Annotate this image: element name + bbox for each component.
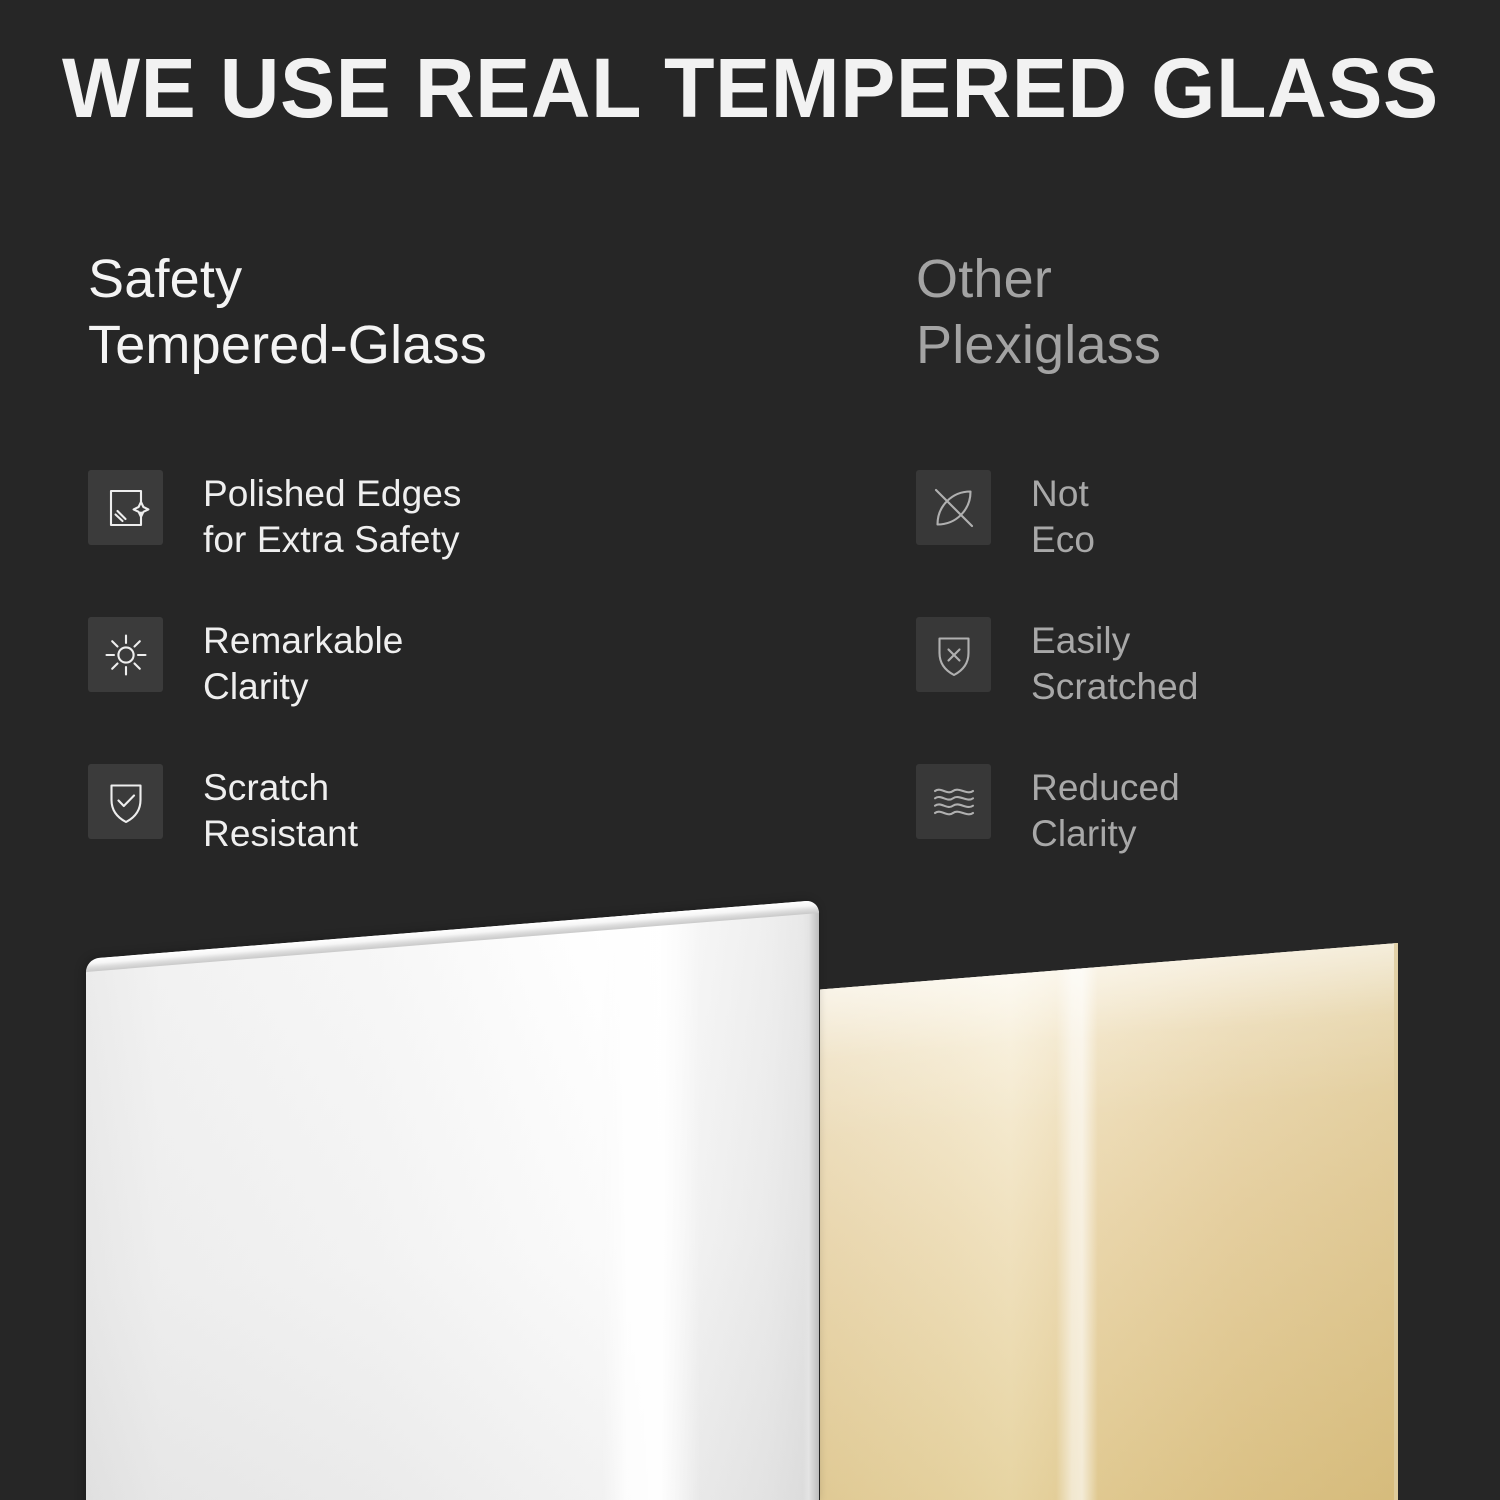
feature-label-remarkable-clarity: Remarkable Clarity <box>203 615 403 710</box>
shield-check-icon <box>88 764 163 839</box>
tempered-glass-panel-image <box>86 900 819 1500</box>
product-comparison-photo <box>0 860 1500 1500</box>
polished-edge-sparkle-icon <box>88 470 163 545</box>
feature-label-not-eco: Not Eco <box>1031 468 1095 563</box>
infographic-canvas: WE USE REAL TEMPERED GLASS Safety Temper… <box>0 0 1500 1500</box>
comparison-column-tempered-glass: Safety Tempered-Glass Polished Edges for… <box>88 246 728 378</box>
tempered-glass-panel-top-edge <box>86 900 819 972</box>
comparison-column-plexiglass: Other Plexiglass Not Eco <box>916 246 1476 378</box>
leaf-crossed-out-icon <box>916 470 991 545</box>
feature-row-remarkable-clarity: Remarkable Clarity <box>88 615 728 762</box>
plexiglass-panel-image <box>820 943 1398 1500</box>
feature-row-polished-edges: Polished Edges for Extra Safety <box>88 468 728 615</box>
feature-list-plexiglass: Not Eco Easily Scratched <box>916 468 1476 909</box>
sun-clarity-icon <box>88 617 163 692</box>
column-title-tempered-glass: Safety Tempered-Glass <box>88 246 728 378</box>
feature-label-scratch-resistant: Scratch Resistant <box>203 762 358 857</box>
feature-label-reduced-clarity: Reduced Clarity <box>1031 762 1180 857</box>
feature-row-easily-scratched: Easily Scratched <box>916 615 1476 762</box>
feature-label-polished-edges: Polished Edges for Extra Safety <box>203 468 462 563</box>
tempered-glass-panel-right-edge <box>803 900 819 1500</box>
column-title-plexiglass: Other Plexiglass <box>916 246 1476 378</box>
feature-list-tempered-glass: Polished Edges for Extra Safety <box>88 468 728 909</box>
feature-row-not-eco: Not Eco <box>916 468 1476 615</box>
plexiglass-panel-sheen <box>1056 967 1098 1500</box>
shield-x-icon <box>916 617 991 692</box>
page-title: WE USE REAL TEMPERED GLASS <box>62 40 1441 136</box>
tempered-glass-panel-sheen <box>602 910 700 1500</box>
wavy-lines-icon <box>916 764 991 839</box>
feature-label-easily-scratched: Easily Scratched <box>1031 615 1199 710</box>
